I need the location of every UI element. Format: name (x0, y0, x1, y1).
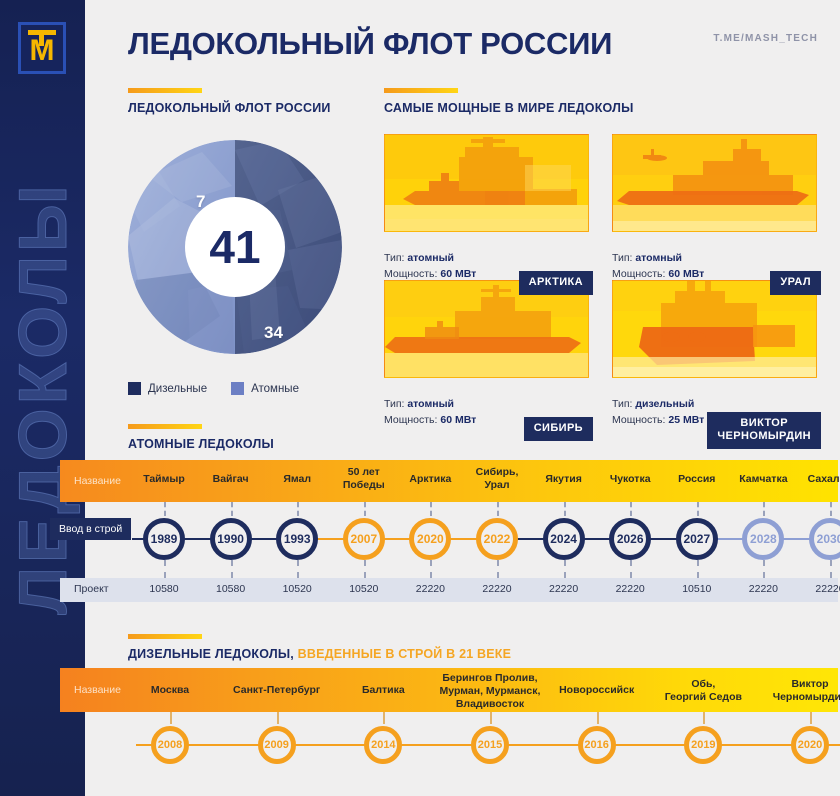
section-title-diesel: ДИЗЕЛЬНЫЕ ЛЕДОКОЛЫ, ВВЕДЕННЫЕ В СТРОЙ В … (128, 647, 511, 661)
nuclear-year-marker[interactable]: 2024 (543, 518, 585, 560)
ship-type-line: Тип: атомный (384, 396, 589, 412)
nuclear-row-label-name: Название (60, 475, 121, 487)
timeline-dash (497, 502, 499, 516)
ship-power-label: Мощность: (612, 268, 665, 280)
nuclear-year-marker[interactable]: 2020 (409, 518, 451, 560)
ship-type-value: атомный (407, 398, 454, 410)
ship-card-sibir: СИБИРЬ Тип: атомный Мощность: 60 МВт (384, 280, 589, 429)
diesel-year-marker[interactable]: 2008 (151, 726, 189, 764)
ship-type-line: Тип: атомный (612, 250, 817, 266)
diesel-column-name: Санкт-Петербург (217, 684, 337, 697)
logo-letter: M (25, 38, 59, 64)
nuclear-project-value: 22220 (398, 583, 462, 595)
diesel-column-name: Виктор Черномырдин (750, 678, 840, 704)
timeline-dash (597, 712, 599, 724)
ship-type-value: атомный (635, 252, 682, 264)
nuclear-year-marker[interactable]: 2007 (343, 518, 385, 560)
diesel-timeline-body: 2008200920142015201620192020 (60, 712, 838, 782)
timeline-dash (170, 712, 172, 724)
ship-name-tag: ВИКТОР ЧЕРНОМЫРДИН (707, 412, 821, 448)
nuclear-project-value: 22220 (798, 583, 840, 595)
nuclear-project-value: 10510 (665, 583, 729, 595)
nuclear-header-row: Название ТаймырВайгачЯмал50 лет ПобедыАр… (60, 460, 838, 502)
donut-label-atomic: 7 (196, 192, 205, 212)
timeline-dash (810, 712, 812, 724)
ship-type-value: атомный (407, 252, 454, 264)
diesel-column-name: Москва (110, 684, 230, 697)
nuclear-year-marker[interactable]: 2022 (476, 518, 518, 560)
timeline-dash (830, 502, 832, 516)
timeline-dash (830, 560, 832, 578)
accent-bar (128, 88, 202, 93)
legend-item-diesel: Дизельные (128, 382, 207, 395)
accent-bar (128, 424, 202, 429)
ship-type-label: Тип: (612, 252, 632, 264)
accent-bar (384, 88, 458, 93)
nuclear-row-label-project: Проект (74, 583, 109, 595)
ship-type-line: Тип: дизельный (612, 396, 817, 412)
donut-ring: 41 (128, 140, 342, 354)
ship-card-ural: УРАЛ Тип: атомный Мощность: 60 МВт (612, 134, 817, 283)
ship-power-value: 25 МВт (668, 414, 704, 426)
section-heading-powerful: САМЫЕ МОЩНЫЕ В МИРЕ ЛЕДОКОЛЫ (384, 88, 634, 115)
legend-swatch-diesel (128, 382, 141, 395)
legend-swatch-atomic (231, 382, 244, 395)
timeline-dash (383, 712, 385, 724)
diesel-year-marker[interactable]: 2020 (791, 726, 829, 764)
nuclear-project-value: 10520 (265, 583, 329, 595)
ship-name-tag: УРАЛ (770, 271, 821, 294)
timeline-dash (564, 560, 566, 578)
ship-power-label: Мощность: (384, 268, 437, 280)
timeline-dash (630, 502, 632, 516)
nuclear-project-value: 22220 (532, 583, 596, 595)
legend-item-atomic: Атомные (231, 382, 299, 395)
timeline-dash (277, 712, 279, 724)
ship-type-value: дизельный (635, 398, 694, 410)
section-title-nuclear: АТОМНЫЕ ЛЕДОКОЛЫ (128, 437, 274, 451)
diesel-title-main: ДИЗЕЛЬНЫЕ ЛЕДОКОЛЫ, (128, 647, 294, 661)
timeline-dash (497, 560, 499, 578)
diesel-year-marker[interactable]: 2016 (578, 726, 616, 764)
nuclear-year-marker[interactable]: 2030 (809, 518, 840, 560)
ship-power-value: 60 МВт (440, 268, 476, 280)
section-title-fleet: ЛЕДОКОЛЬНЫЙ ФЛОТ РОССИИ (128, 101, 331, 115)
ship-photo-arktika (384, 134, 589, 232)
ship-power-value: 60 МВт (668, 268, 704, 280)
nuclear-year-marker[interactable]: 1989 (143, 518, 185, 560)
diesel-column-name: Берингов Пролив, Мурман, Мурманск, Влади… (430, 672, 550, 711)
diesel-column-name: Обь, Георгий Седов (643, 678, 763, 704)
infographic-page: ЛЕДОКОЛЫ M ЛЕДОКОЛЬНЫЙ ФЛОТ РОССИИ T.ME/… (0, 0, 840, 796)
timeline-dash (231, 502, 233, 516)
nuclear-project-value: 22220 (598, 583, 662, 595)
timeline-dash (364, 560, 366, 578)
ship-photo-chernomyrdin (612, 280, 817, 378)
ship-name-tag: АРКТИКА (519, 271, 593, 294)
diesel-header-row: Название МоскваСанкт-ПетербургБалтикаБер… (60, 668, 838, 712)
ship-photo-sibir (384, 280, 589, 378)
section-title-powerful: САМЫЕ МОЩНЫЕ В МИРЕ ЛЕДОКОЛЫ (384, 101, 634, 115)
nuclear-project-value: 10580 (132, 583, 196, 595)
donut-center-total: 41 (185, 197, 285, 297)
nuclear-year-marker[interactable]: 2026 (609, 518, 651, 560)
timeline-dash (164, 560, 166, 578)
legend-label-diesel: Дизельные (148, 383, 207, 395)
nuclear-year-marker[interactable]: 2027 (676, 518, 718, 560)
timeline-dash (297, 502, 299, 516)
timeline-dash (697, 560, 699, 578)
channel-handle: T.ME/MASH_TECH (713, 33, 818, 44)
nuclear-year-marker[interactable]: 1993 (276, 518, 318, 560)
legend-label-atomic: Атомные (251, 383, 299, 395)
ship-type-line: Тип: атомный (384, 250, 589, 266)
timeline-dash (490, 712, 492, 724)
diesel-column-name: Новороссийск (537, 684, 657, 697)
diesel-year-marker[interactable]: 2009 (258, 726, 296, 764)
timeline-dash (763, 502, 765, 516)
ship-card-arktika: АРКТИКА Тип: атомный Мощность: 60 МВт (384, 134, 589, 283)
timeline-dash (630, 560, 632, 578)
diesel-title-highlight: ВВЕДЕННЫЕ В СТРОЙ В 21 ВЕКЕ (294, 647, 511, 661)
section-heading-fleet: ЛЕДОКОЛЬНЫЙ ФЛОТ РОССИИ (128, 88, 331, 115)
ship-type-label: Тип: (612, 398, 632, 410)
accent-bar (128, 634, 202, 639)
donut-label-diesel: 34 (264, 323, 283, 343)
diesel-year-marker[interactable]: 2014 (364, 726, 402, 764)
nuclear-column-name: Сахалин (784, 473, 840, 486)
diesel-year-marker[interactable]: 2015 (471, 726, 509, 764)
nuclear-year-marker[interactable]: 1990 (210, 518, 252, 560)
timeline-dash (430, 560, 432, 578)
ship-power-label: Мощность: (384, 414, 437, 426)
mash-tech-logo: M (18, 22, 66, 74)
timeline-dash (763, 560, 765, 578)
nuclear-project-value: 22220 (731, 583, 795, 595)
ship-photo-ural (612, 134, 817, 232)
page-title: ЛЕДОКОЛЬНЫЙ ФЛОТ РОССИИ (128, 26, 612, 62)
timeline-dash (703, 712, 705, 724)
ship-type-label: Тип: (384, 252, 404, 264)
nuclear-project-row: Проект 105801058010520105202222022220222… (60, 578, 838, 602)
ship-type-label: Тип: (384, 398, 404, 410)
section-heading-nuclear: АТОМНЫЕ ЛЕДОКОЛЫ (128, 424, 274, 451)
timeline-dash (430, 502, 432, 516)
timeline-dash (364, 502, 366, 516)
donut-total-value: 41 (209, 220, 260, 274)
diesel-column-name: Балтика (323, 684, 443, 697)
ship-power-value: 60 МВт (440, 414, 476, 426)
timeline-dash (564, 502, 566, 516)
timeline-dash (164, 502, 166, 516)
fleet-donut-chart: 41 7 34 (128, 140, 348, 360)
nuclear-project-value: 10520 (332, 583, 396, 595)
timeline-dash (297, 560, 299, 578)
nuclear-timeline-body: 1989199019932007202020222024202620272028… (60, 502, 838, 578)
timeline-dash (231, 560, 233, 578)
ship-card-chernomyrdin: ВИКТОР ЧЕРНОМЫРДИН Тип: дизельный Мощнос… (612, 280, 817, 429)
nuclear-project-value: 22220 (465, 583, 529, 595)
ship-name-tag: СИБИРЬ (524, 417, 593, 440)
nuclear-row-label-commission: Ввод в строй (50, 518, 131, 540)
nuclear-year-marker[interactable]: 2028 (742, 518, 784, 560)
timeline-dash (697, 502, 699, 516)
ship-power-label: Мощность: (612, 414, 665, 426)
section-heading-diesel: ДИЗЕЛЬНЫЕ ЛЕДОКОЛЫ, ВВЕДЕННЫЕ В СТРОЙ В … (128, 634, 511, 661)
nuclear-project-value: 10580 (199, 583, 263, 595)
donut-legend: Дизельные Атомные (128, 382, 299, 395)
diesel-year-marker[interactable]: 2019 (684, 726, 722, 764)
